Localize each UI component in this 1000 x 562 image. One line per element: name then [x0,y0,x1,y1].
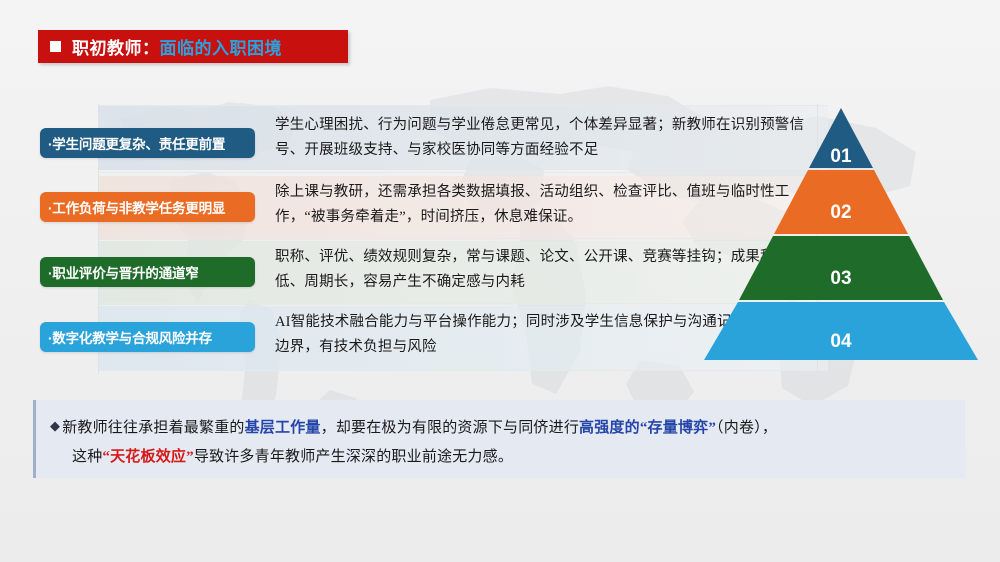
row-label-pill-2[interactable]: ·工作负荷与非教学任务更明显 [40,192,255,222]
pyramid-diagram: 01 02 03 04 [690,104,995,366]
pyramid-number-2: 02 [830,202,851,223]
pyramid-number-3: 03 [830,268,851,289]
square-bullet-icon [50,41,61,52]
diamond-bullet-icon: ◆ [50,418,60,433]
slide-title-bar: 职初教师： 面临的入职困境 [38,30,348,63]
row-label-pill-3[interactable]: ·职业评价与晋升的通道窄 [40,257,255,287]
summary-line-2: 这种“天花板效应”导致许多青年教师产生深深的职业前途无力感。 [50,443,947,472]
summary-highlight-3: “存量博弈” [640,420,716,436]
summary-highlight-1: 基层工作量 [245,420,321,436]
summary-callout: ◆新教师往往承担着最繁重的基层工作量，却要在极为有限的资源下与同侪进行高强度的“… [33,400,965,478]
summary-text-a: 新教师往往承担着最繁重的 [62,420,244,436]
row-label-pill-1[interactable]: ·学生问题更复杂、责任更前置 [40,128,255,158]
summary-highlight-2: 高强度的 [579,420,640,436]
pyramid-number-1: 01 [830,146,852,167]
summary-text-e: 导致许多青年教师产生深深的职业前途无力感。 [194,449,513,465]
summary-text-b: ，却要在极为有限的资源下与同侪进行 [321,420,579,436]
page-title-main: 职初教师： [72,34,160,59]
summary-highlight-4: “天花板效应” [102,449,193,465]
row-label-pill-4[interactable]: ·数字化教学与合规风险并存 [40,322,255,352]
summary-text-c: （内卷）， [716,420,777,436]
page-title-sub: 面临的入职困境 [160,34,283,59]
slide-root: 职初教师： 面临的入职困境 ·学生问题更复杂、责任更前置 ·工作负荷与非教学任务… [0,0,1000,562]
summary-text-d: 这种 [72,449,102,465]
pyramid-number-4: 04 [830,331,852,352]
